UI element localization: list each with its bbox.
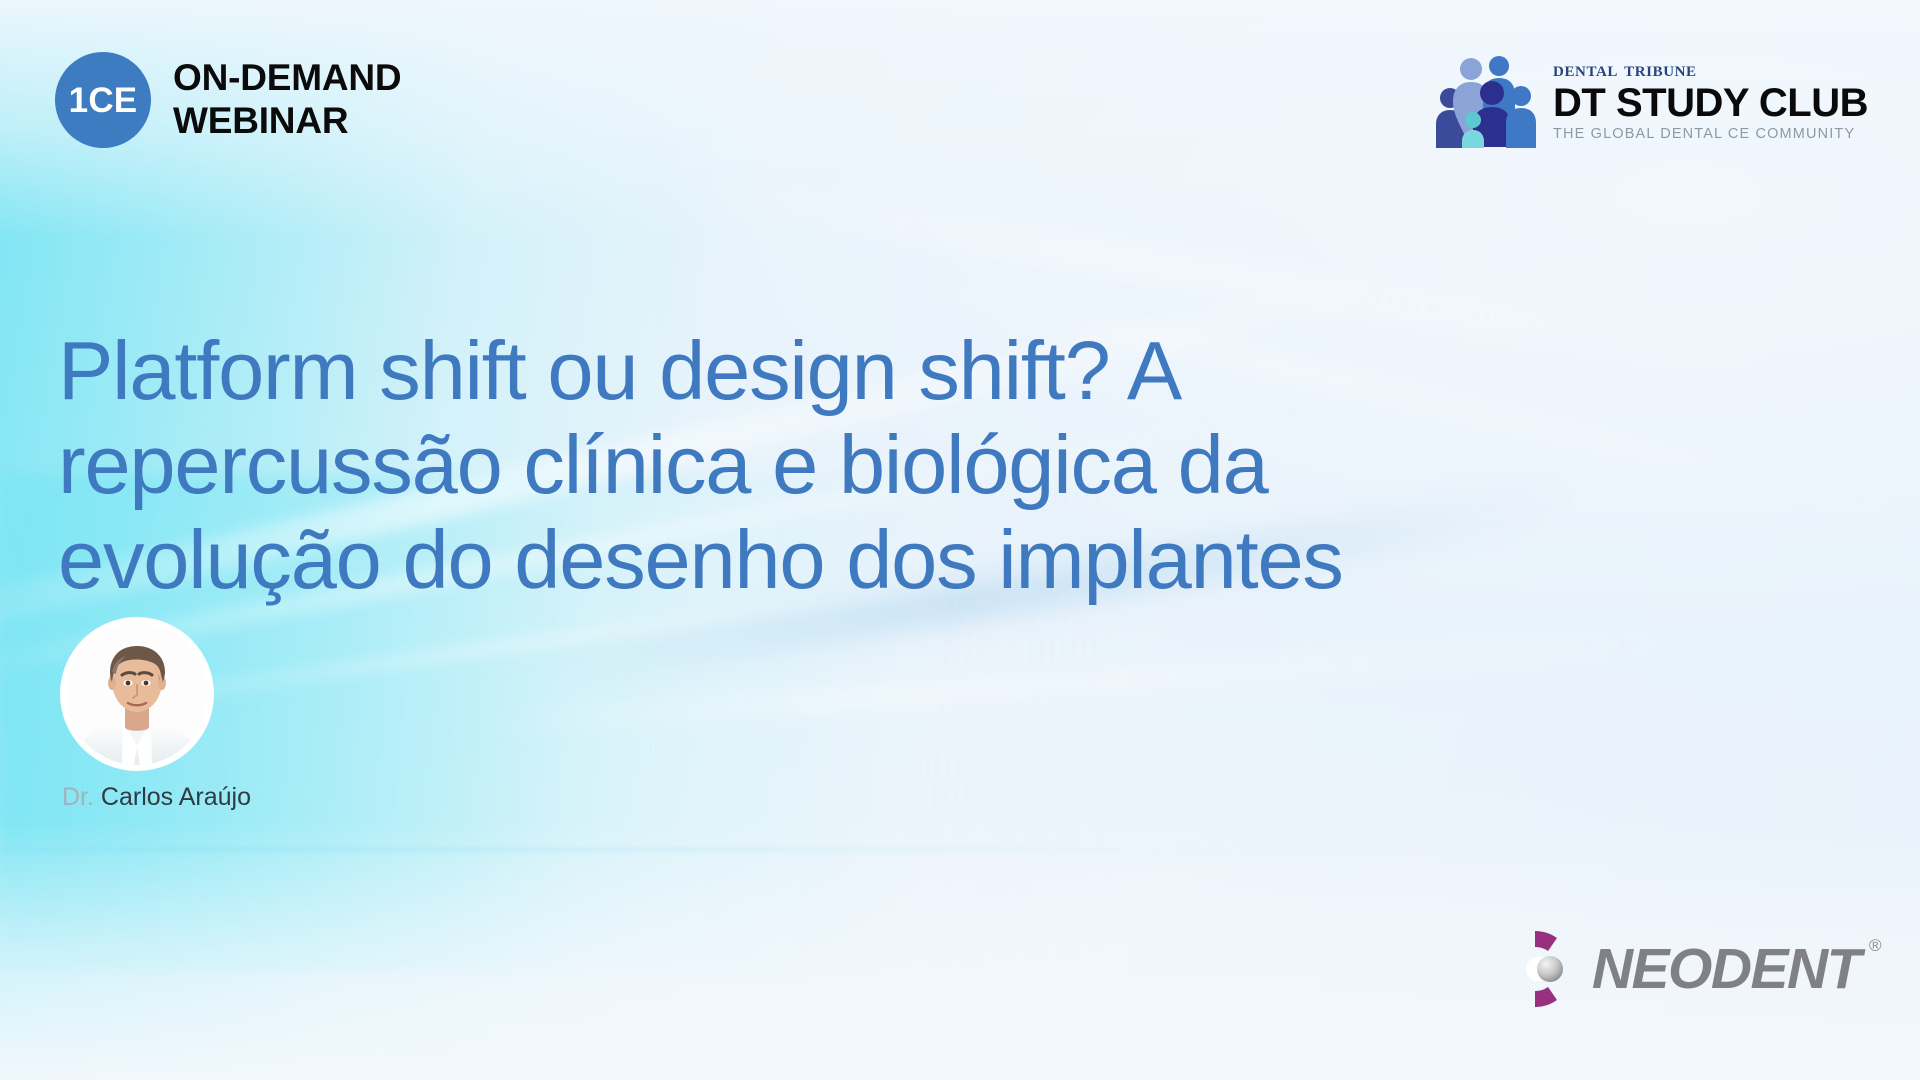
publisher-name: Dental Tribune <box>1553 58 1868 80</box>
dt-study-club-wordmark: Dental Tribune DT STUDY CLUB THE GLOBAL … <box>1553 58 1868 142</box>
registered-trademark-symbol: ® <box>1869 937 1880 954</box>
brand-tagline: THE GLOBAL DENTAL CE COMMUNITY <box>1553 127 1868 142</box>
presenter-headshot-image <box>66 623 208 765</box>
ce-credit-label: 1CE <box>69 83 138 118</box>
neodent-c-mark-icon <box>1492 926 1578 1012</box>
brand-name: DT STUDY CLUB <box>1553 83 1868 123</box>
presenter-fullname: Carlos Araújo <box>101 783 251 811</box>
presenter-honorific: Dr. <box>62 783 94 811</box>
people-group-icon <box>1433 52 1537 148</box>
presenter-avatar <box>66 623 208 765</box>
ce-credit-badge: 1CE <box>55 52 151 148</box>
neodent-logo: NEODENT® <box>1492 926 1860 1012</box>
webinar-title: Platform shift ou design shift? A reperc… <box>58 324 1558 608</box>
webinar-type-label: ON-DEMAND WEBINAR <box>173 57 401 143</box>
dt-study-club-logo: Dental Tribune DT STUDY CLUB THE GLOBAL … <box>1433 52 1868 148</box>
webinar-promo-slide: 1CE ON-DEMAND WEBINAR Dental Tribu <box>0 0 1920 1080</box>
neodent-wordmark: NEODENT® <box>1592 941 1860 998</box>
presenter-name: Dr. Carlos Araújo <box>62 785 251 810</box>
sponsor-name: NEODENT <box>1592 937 1860 1001</box>
webinar-header: 1CE ON-DEMAND WEBINAR <box>55 52 401 148</box>
